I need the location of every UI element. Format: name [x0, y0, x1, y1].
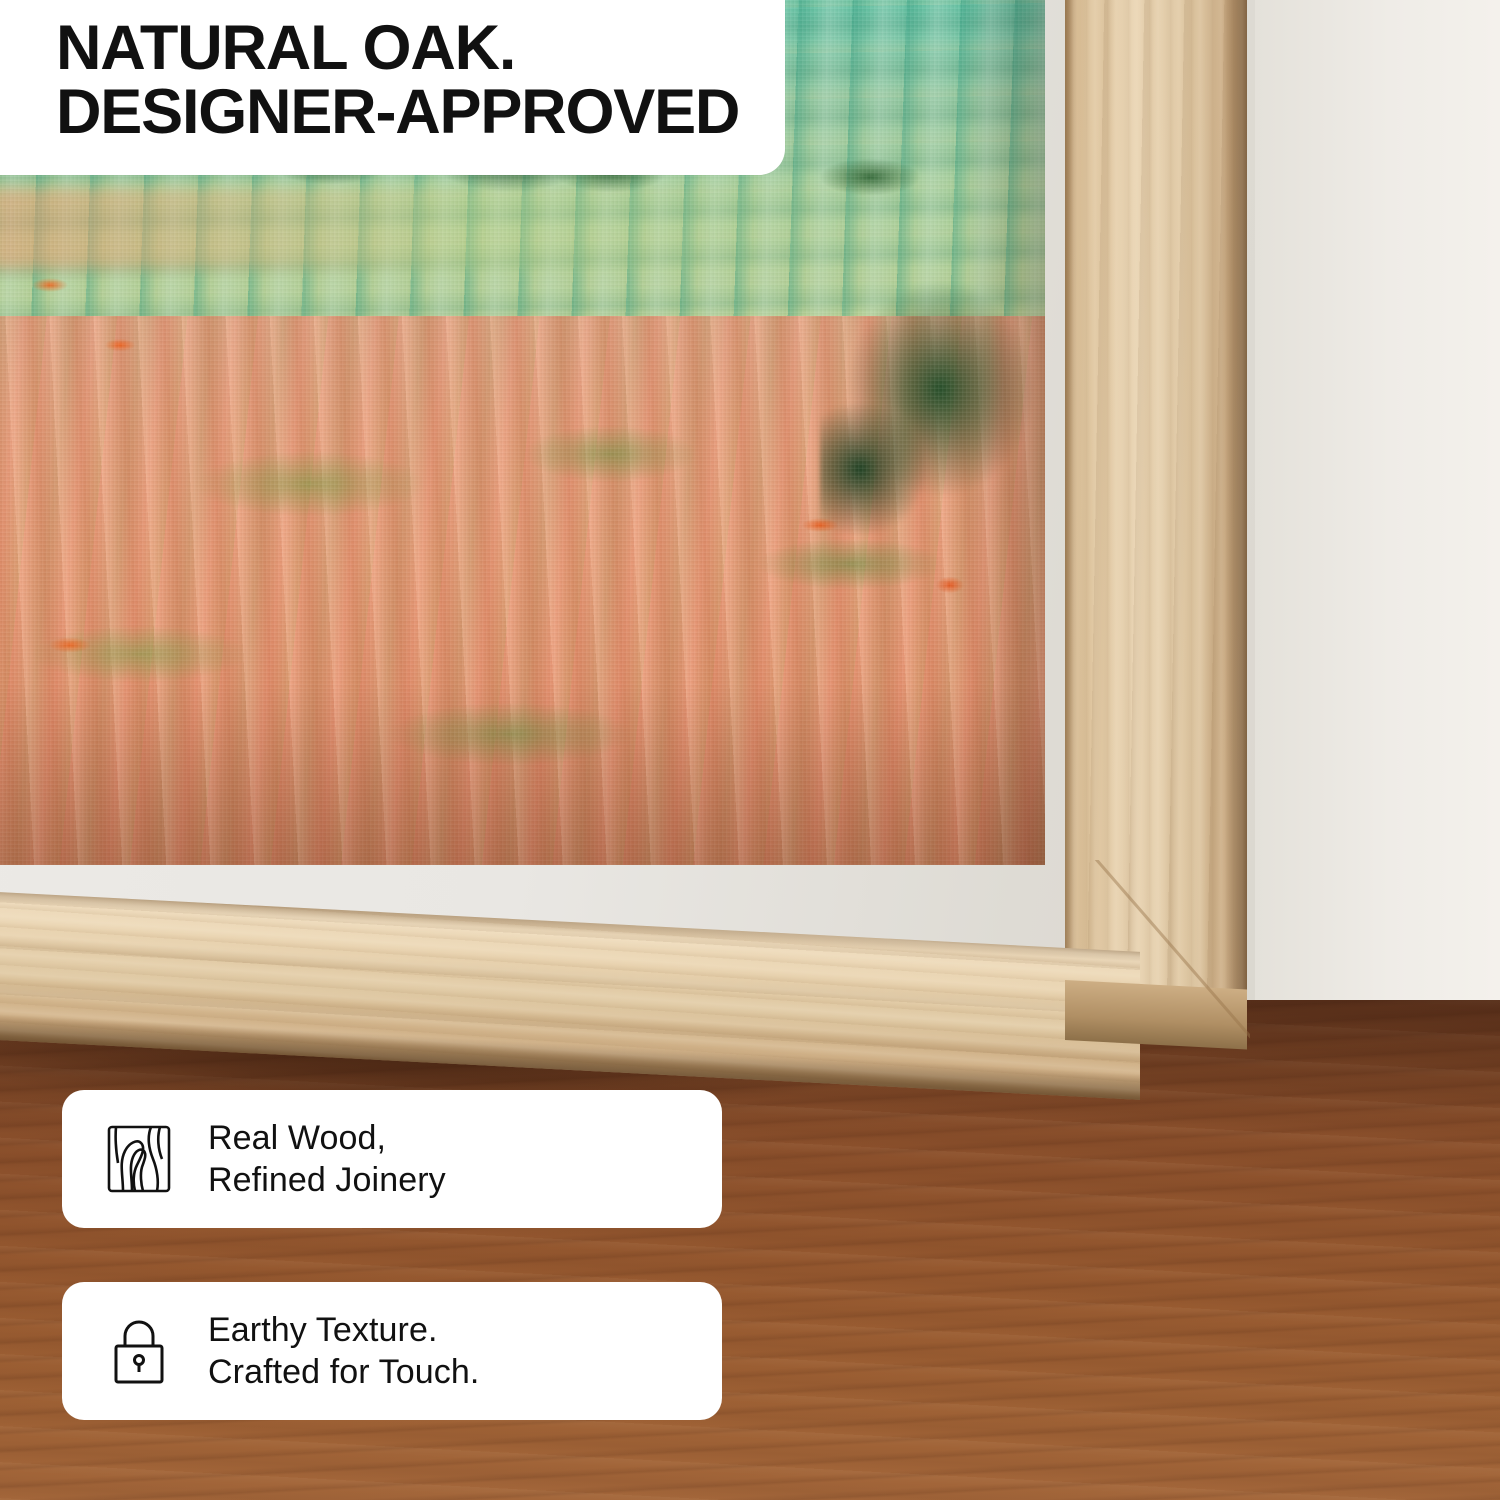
feature-2-line-2: Crafted for Touch.: [208, 1351, 479, 1394]
feature-1-line-1: Real Wood,: [208, 1117, 446, 1160]
frame-mitre-joint: [1000, 860, 1250, 1090]
feature-text-earthy-texture: Earthy Texture. Crafted for Touch.: [208, 1309, 479, 1394]
feature-text-real-wood: Real Wood, Refined Joinery: [208, 1117, 446, 1202]
feature-card-earthy-texture: Earthy Texture. Crafted for Touch.: [62, 1282, 722, 1420]
feature-card-real-wood: Real Wood, Refined Joinery: [62, 1090, 722, 1228]
lock-icon: [96, 1308, 182, 1394]
product-image-canvas: NATURAL OAK. DESIGNER-APPROVED Real Wood…: [0, 0, 1500, 1500]
feature-1-line-2: Refined Joinery: [208, 1159, 446, 1202]
wall-background-right: [1255, 0, 1500, 1015]
feature-2-line-1: Earthy Texture.: [208, 1309, 479, 1352]
headline-line-1: NATURAL OAK.: [56, 16, 739, 80]
headline-line-2: DESIGNER-APPROVED: [56, 80, 739, 144]
headline-card: NATURAL OAK. DESIGNER-APPROVED: [0, 0, 785, 175]
wood-grain-icon: [96, 1116, 182, 1202]
